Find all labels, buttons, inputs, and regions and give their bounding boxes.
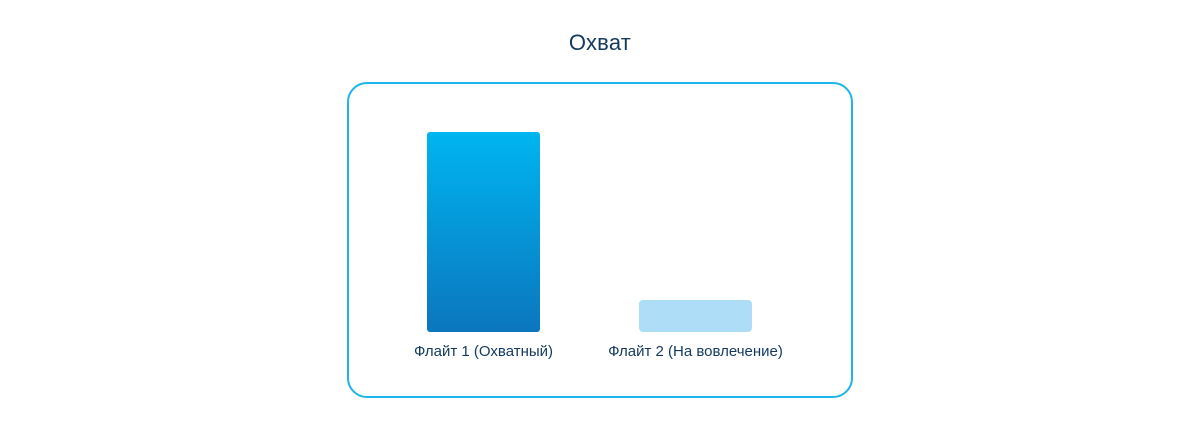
chart-title: Охват [0,28,1200,58]
bar-label-flight-2: Флайт 2 (На вовлечение) [576,342,816,362]
bar-group [639,122,752,332]
bar-flight-1[interactable] [427,132,540,332]
bar-label-flight-1: Флайт 1 (Охватный) [364,342,604,362]
chart-card: Флайт 1 (Охватный) Флайт 2 (На вовлечени… [347,82,853,398]
bar-group [427,122,540,332]
plot-area: Флайт 1 (Охватный) Флайт 2 (На вовлечени… [349,84,855,400]
bar-flight-2[interactable] [639,300,752,332]
